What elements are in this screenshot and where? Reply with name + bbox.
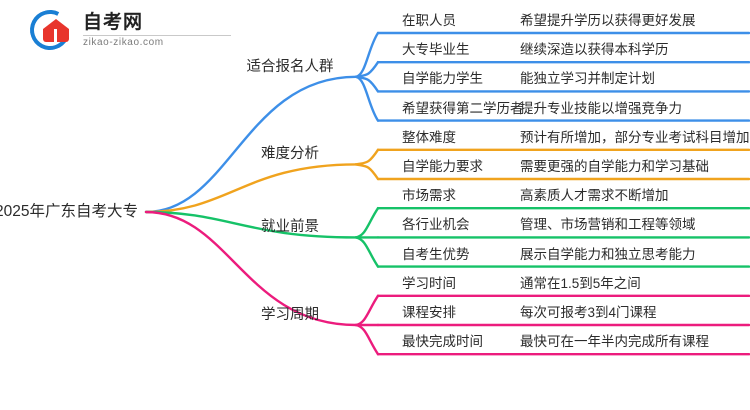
branch-label-4: 学习周期 [261,308,319,323]
branch-label-2: 难度分析 [261,147,319,162]
branch-label-3: 就业前景 [261,220,319,235]
leaf-key-2-1: 整体难度 [402,131,456,145]
logo-url: zikao-zikao.com [83,38,231,48]
logo-divider [83,35,231,36]
connector-line [356,77,378,121]
leaf-value-1-3: 能独立学习并制定计划 [520,72,655,86]
connector-line [356,325,378,354]
leaf-value-1-1: 希望提升学历以获得更好发展 [520,14,696,28]
root-node-label: 2025年广东自考大专 [0,204,138,220]
leaf-value-1-4: 提升专业技能以增强竞争力 [520,102,682,116]
leaf-key-3-1: 市场需求 [402,189,456,203]
connector-line [146,212,356,237]
site-logo: 自考网 zikao-zikao.com [30,8,245,52]
branch-label-1: 适合报名人群 [247,60,334,75]
leaf-key-1-2: 大专毕业生 [402,43,470,57]
leaf-key-4-3: 最快完成时间 [402,335,483,349]
leaf-value-2-2: 需要更强的自学能力和学习基础 [520,160,709,174]
leaf-value-1-2: 继续深造以获得本科学历 [520,43,669,57]
leaf-value-3-1: 高素质人才需求不断增加 [520,189,669,203]
leaf-key-2-2: 自学能力要求 [402,160,483,174]
connector-line [146,77,356,212]
leaf-key-3-2: 各行业机会 [402,218,470,232]
leaf-key-1-4: 希望获得第二学历者 [402,102,524,116]
connector-line [356,150,378,165]
leaf-value-2-1: 预计有所增加，部分专业考试科目增加 [520,131,750,145]
leaf-key-1-3: 自学能力学生 [402,72,483,86]
connector-line [146,212,356,325]
connector-line [356,164,378,179]
leaf-key-4-1: 学习时间 [402,277,456,291]
logo-title: 自考网 [83,13,231,32]
leaf-key-3-3: 自考生优势 [402,248,470,262]
leaf-value-3-3: 展示自学能力和独立思考能力 [520,248,696,262]
connector-line [356,296,378,325]
connector-line [356,208,378,237]
leaf-value-3-2: 管理、市场营销和工程等领域 [520,218,696,232]
leaf-value-4-2: 每次可报考3到4门课程 [520,306,657,320]
leaf-key-4-2: 课程安排 [402,306,456,320]
connector-line [356,33,378,77]
graduation-cap-icon [30,8,74,52]
leaf-value-4-3: 最快可在一年半内完成所有课程 [520,335,709,349]
connector-line [356,237,378,266]
leaf-key-1-1: 在职人员 [402,14,456,28]
leaf-value-4-1: 通常在1.5到5年之间 [520,277,641,291]
